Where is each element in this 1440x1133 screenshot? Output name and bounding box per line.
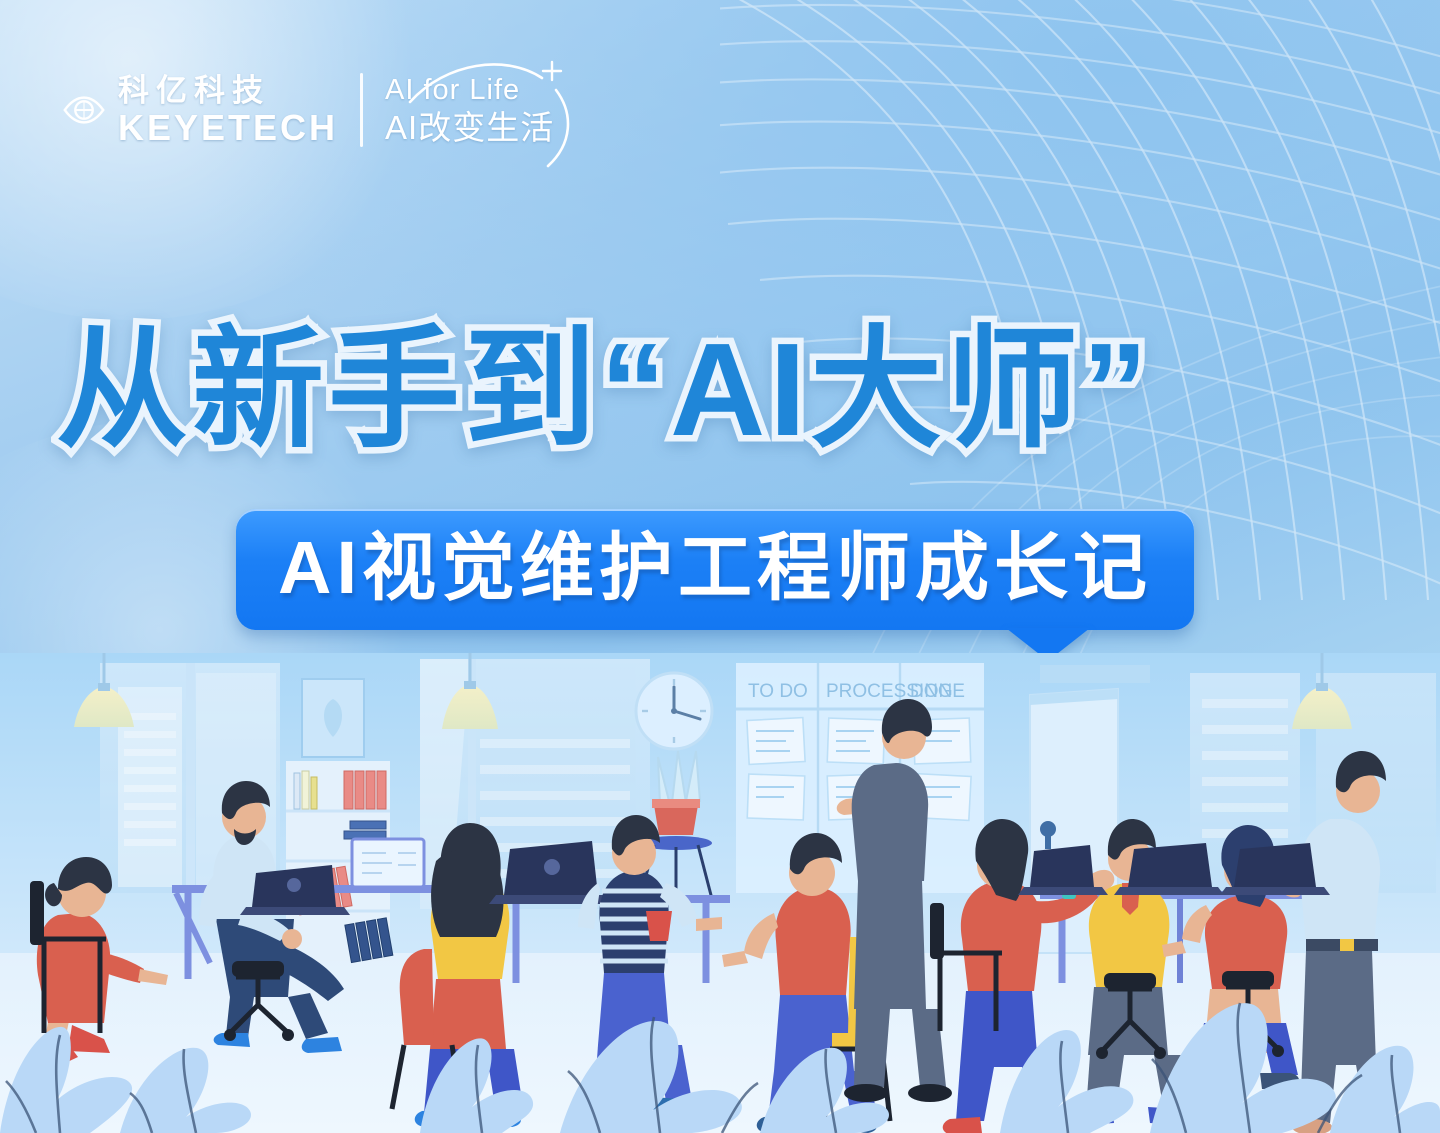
- brand-name-cn: 科亿科技: [118, 74, 338, 109]
- framed-picture: [302, 679, 364, 757]
- wall-clock: [636, 673, 712, 749]
- glow-top-left: [0, 0, 440, 320]
- brand-name-en: KEYETECH: [118, 109, 338, 147]
- kanban-col-done: DONE: [910, 681, 965, 702]
- subtitle-banner: AI视觉维护工程师成长记: [236, 509, 1194, 630]
- tagline-cn: AI改变生活: [385, 108, 554, 148]
- monitor-left-desk: [352, 839, 424, 887]
- page-title: 从新手到“AI大师”: [56, 324, 1386, 456]
- brand-logo: 科亿科技 KEYETECH AI for Life AI改变生活: [62, 72, 554, 149]
- subtitle-text: AI视觉维护工程师成长记: [278, 527, 1152, 610]
- eye-icon: [62, 88, 106, 132]
- office-training-illustration: TO DO PROCESSING DONE: [0, 653, 1440, 1133]
- brand-tagline: AI for Life AI改变生活: [385, 72, 554, 149]
- logo-divider: [360, 73, 363, 147]
- marketing-poster: 科亿科技 KEYETECH AI for Life AI改变生活 从新手到“AI…: [0, 0, 1440, 1133]
- tagline-en: AI for Life: [385, 72, 554, 108]
- kanban-col-todo: TO DO: [748, 681, 808, 702]
